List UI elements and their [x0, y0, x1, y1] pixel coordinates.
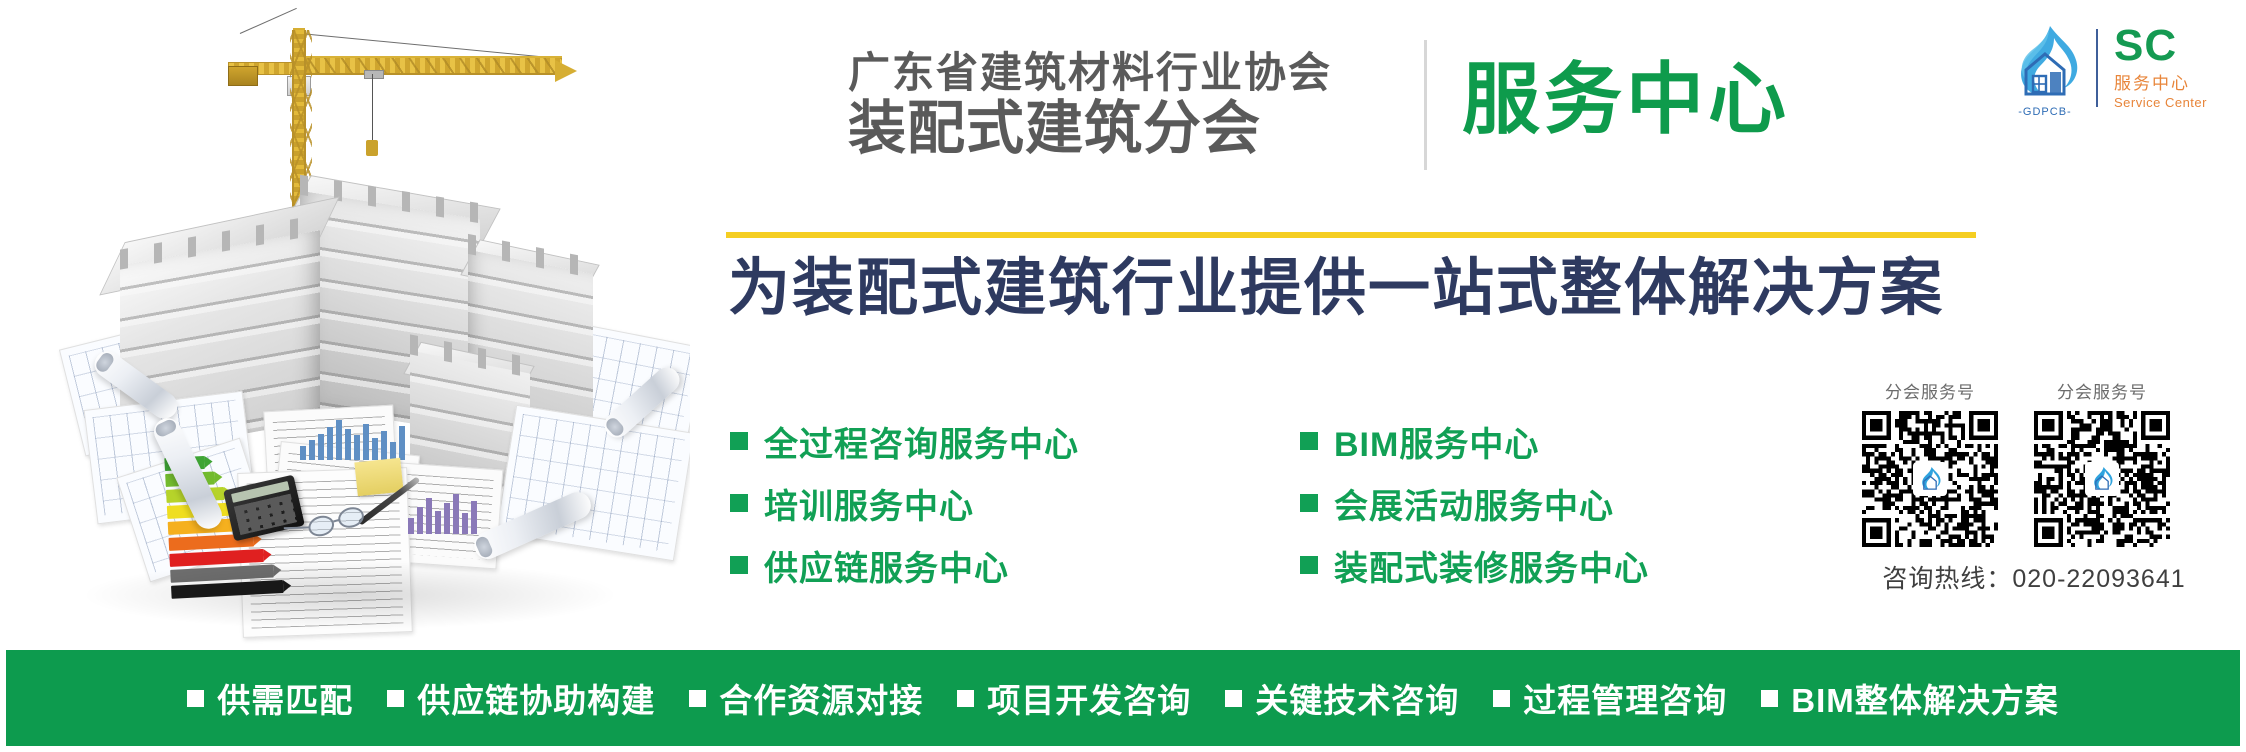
association-title: 广东省建筑材料行业协会 装配式建筑分会 [848, 52, 1408, 158]
bottom-tag[interactable]: BIM整体解决方案 [1761, 674, 2059, 722]
bottom-tag-label: 合作资源对接 [719, 674, 923, 722]
logo-sc-cn: 服务中心 [2114, 69, 2207, 94]
bar-chart-report-icon [300, 418, 405, 460]
square-bullet-icon [689, 690, 706, 707]
gdpcb-logo-icon [2085, 462, 2119, 496]
square-bullet-icon [1225, 690, 1242, 707]
bar-chart-report-icon [408, 492, 477, 534]
service-list-item[interactable]: 培训服务中心 [730, 472, 1079, 534]
bottom-tag[interactable]: 关键技术咨询 [1225, 674, 1459, 722]
bottom-tag-label: 关键技术咨询 [1255, 674, 1459, 722]
service-list-item[interactable]: 装配式装修服务中心 [1300, 534, 1649, 596]
qr-code-cell: 分会服务号 [2034, 378, 2170, 547]
title-divider [1424, 40, 1427, 170]
qr-code-label: 分会服务号 [1862, 378, 1998, 403]
bottom-tag-label: 供需匹配 [217, 674, 353, 722]
construction-site-3d-render [0, 0, 690, 645]
hotline-text: 咨询热线：020-22093641 [1862, 559, 2206, 595]
bottom-tag-label: 项目开发咨询 [987, 674, 1191, 722]
association-title-line2: 装配式建筑分会 [848, 100, 1408, 158]
qr-code-cell: 分会服务号 [1862, 378, 1998, 547]
qr-code-image[interactable] [1862, 411, 1998, 547]
square-bullet-icon [387, 690, 404, 707]
service-list-left: 全过程咨询服务中心培训服务中心供应链服务中心 [730, 410, 1079, 596]
square-bullet-icon [730, 556, 748, 574]
service-list-item-label: 培训服务中心 [764, 479, 974, 528]
qr-code-block: 分会服务号分会服务号 咨询热线：020-22093641 [1862, 378, 2206, 595]
service-list-item[interactable]: 全过程咨询服务中心 [730, 410, 1079, 472]
bottom-tag-label: 供应链协助构建 [417, 674, 655, 722]
square-bullet-icon [730, 494, 748, 512]
banner-root: 广东省建筑材料行业协会 装配式建筑分会 服务中心 为装配式建筑行业提供一站式整体… [0, 0, 2246, 752]
qr-code-image[interactable] [2034, 411, 2170, 547]
service-list-item[interactable]: 供应链服务中心 [730, 534, 1079, 596]
bottom-tag-label: BIM整体解决方案 [1791, 674, 2059, 722]
bottom-tag[interactable]: 过程管理咨询 [1493, 674, 1727, 722]
service-list-item-label: BIM服务中心 [1334, 417, 1539, 466]
square-bullet-icon [1300, 432, 1318, 450]
square-bullet-icon [1300, 556, 1318, 574]
service-list-item[interactable]: 会展活动服务中心 [1300, 472, 1649, 534]
logo-sc-abbr: SC [2114, 26, 2207, 66]
logo-caption: -GDPCB- [2002, 106, 2088, 118]
blue-flame-house-icon: -GDPCB- [2002, 20, 2088, 116]
service-list-item-label: 全过程咨询服务中心 [764, 417, 1079, 466]
brand-logo: -GDPCB- SC 服务中心 Service Center [2002, 16, 2234, 120]
gdpcb-logo-icon [1913, 462, 1947, 496]
square-bullet-icon [957, 690, 974, 707]
logo-divider [2096, 29, 2098, 107]
slogan-text: 为装配式建筑行业提供一站式整体解决方案 [728, 258, 1944, 320]
service-list-item-label: 装配式装修服务中心 [1334, 541, 1649, 590]
logo-wordmark: SC 服务中心 Service Center [2114, 26, 2207, 110]
service-center-title: 服务中心 [1462, 60, 1790, 138]
service-list-item[interactable]: BIM服务中心 [1300, 410, 1649, 472]
square-bullet-icon [730, 432, 748, 450]
square-bullet-icon [1493, 690, 1510, 707]
qr-code-row: 分会服务号分会服务号 [1862, 378, 2206, 547]
service-list-right: BIM服务中心会展活动服务中心装配式装修服务中心 [1300, 410, 1649, 596]
square-bullet-icon [1761, 690, 1778, 707]
square-bullet-icon [187, 690, 204, 707]
bottom-tag[interactable]: 合作资源对接 [689, 674, 923, 722]
bottom-tag[interactable]: 供需匹配 [187, 674, 353, 722]
yellow-divider-rule [726, 232, 1976, 238]
association-title-line1: 广东省建筑材料行业协会 [848, 52, 1408, 94]
service-list-item-label: 供应链服务中心 [764, 541, 1009, 590]
service-list-item-label: 会展活动服务中心 [1334, 479, 1614, 528]
bottom-tag-label: 过程管理咨询 [1523, 674, 1727, 722]
bottom-tag[interactable]: 供应链协助构建 [387, 674, 655, 722]
logo-sc-en: Service Center [2114, 95, 2207, 110]
bottom-tag-bar: 供需匹配供应链协助构建合作资源对接项目开发咨询关键技术咨询过程管理咨询BIM整体… [6, 650, 2240, 746]
qr-code-label: 分会服务号 [2034, 378, 2170, 403]
square-bullet-icon [1300, 494, 1318, 512]
bottom-tag[interactable]: 项目开发咨询 [957, 674, 1191, 722]
